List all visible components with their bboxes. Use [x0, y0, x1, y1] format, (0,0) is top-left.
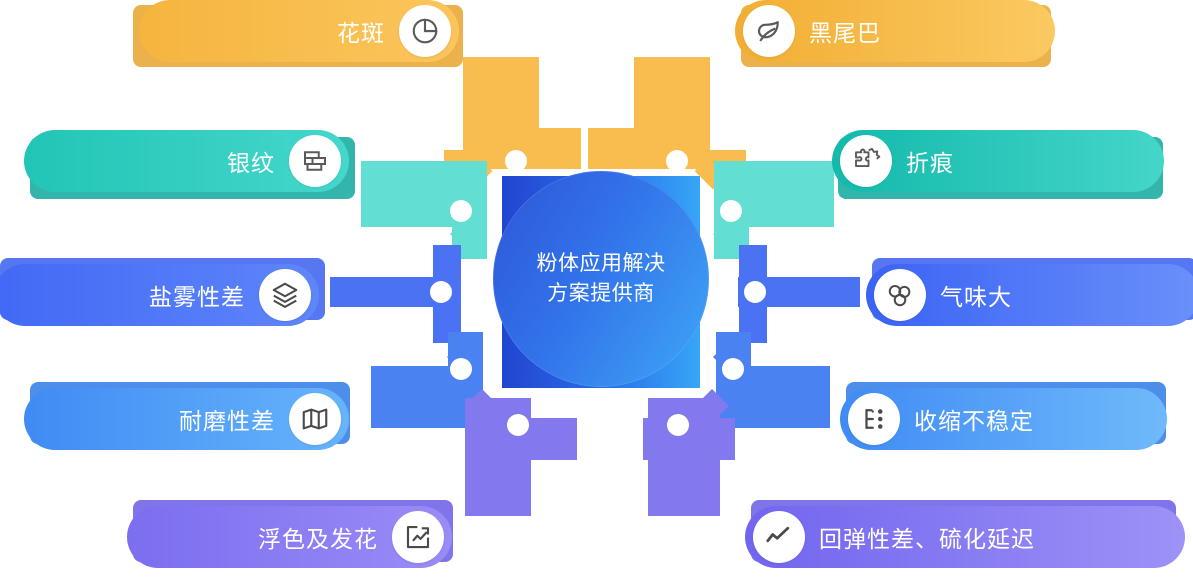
node-dot-qi-wei-da	[744, 281, 766, 303]
band-hei-wei-ba-elbow	[588, 128, 710, 169]
branch-label-hua-ban: 花斑	[337, 14, 385, 48]
puzzle-icon	[840, 135, 892, 187]
line-chart-icon	[753, 511, 805, 563]
branch-label-zhe-hen: 折痕	[906, 144, 954, 178]
brick-wall-icon	[289, 135, 341, 187]
node-dot-yan-wu	[430, 281, 452, 303]
node-dot-shou-suo	[722, 358, 744, 380]
sitemap-icon	[848, 393, 900, 445]
branch-label-fu-se: 浮色及发花	[258, 520, 378, 554]
branch-label-qi-wei-da: 气味大	[940, 278, 1012, 312]
recycle-icon	[874, 269, 926, 321]
branch-pill-yin-wen[interactable]: 银纹	[24, 130, 349, 192]
branch-label-shou-suo: 收缩不稳定	[914, 402, 1034, 436]
node-dot-zhe-hen	[720, 200, 742, 222]
branch-pill-nai-mo[interactable]: 耐磨性差	[24, 388, 349, 450]
node-dot-yin-wen	[450, 200, 472, 222]
branch-pill-yan-wu[interactable]: 盐雾性差	[0, 264, 319, 326]
branch-pill-zhe-hen[interactable]: 折痕	[832, 130, 1164, 192]
infographic-canvas: 粉体应用解决 方案提供商 花斑 银纹 盐雾性差	[0, 0, 1193, 577]
node-dot-hua-ban	[505, 150, 527, 172]
branch-pill-shou-suo[interactable]: 收缩不稳定	[840, 388, 1167, 450]
node-dot-fu-se	[507, 414, 529, 436]
band-hui-tan-elbow	[643, 418, 735, 460]
branch-label-nai-mo: 耐磨性差	[179, 402, 275, 436]
branch-label-yin-wen: 银纹	[227, 144, 275, 178]
branch-pill-hei-wei-ba[interactable]: 黑尾巴	[735, 0, 1055, 62]
branch-pill-hua-ban[interactable]: 花斑	[139, 0, 459, 62]
branch-label-hui-tan: 回弹性差、硫化延迟	[819, 520, 1035, 554]
center-title: 粉体应用解决 方案提供商	[537, 249, 666, 309]
branch-label-yan-wu: 盐雾性差	[149, 278, 245, 312]
center-node[interactable]: 粉体应用解决 方案提供商	[493, 171, 709, 387]
branch-pill-fu-se[interactable]: 浮色及发花	[127, 506, 452, 568]
branch-pill-hui-tan[interactable]: 回弹性差、硫化延迟	[745, 506, 1185, 568]
layers-icon	[259, 269, 311, 321]
map-icon	[289, 393, 341, 445]
node-dot-hui-tan	[667, 414, 689, 436]
branch-label-hei-wei-ba: 黑尾巴	[809, 14, 881, 48]
node-dot-nai-mo	[450, 358, 472, 380]
pie-chart-icon	[399, 5, 451, 57]
branch-pill-qi-wei-da[interactable]: 气味大	[866, 264, 1193, 326]
node-dot-hei-wei-ba	[666, 150, 688, 172]
trend-up-box-icon	[392, 511, 444, 563]
leaf-icon	[743, 5, 795, 57]
